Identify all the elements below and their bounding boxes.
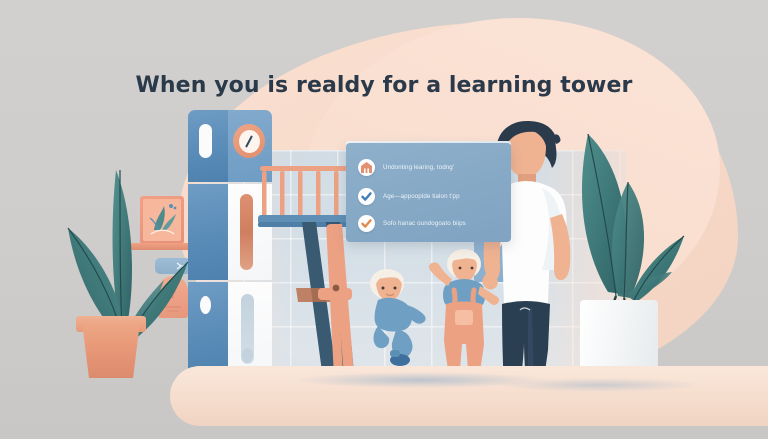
plant-pot-left bbox=[82, 322, 140, 378]
check-circle-icon bbox=[358, 188, 375, 205]
floor-shadow-right bbox=[500, 378, 700, 392]
tower-dot bbox=[242, 348, 253, 363]
plant-leaves-right bbox=[566, 96, 746, 311]
info-board: Undonting learing, todng' Age—appooplde … bbox=[346, 143, 511, 242]
potted-plant-right bbox=[566, 96, 746, 311]
tower-handle-mid bbox=[240, 194, 253, 270]
info-row: Sofo hanac oundogoato biips bbox=[358, 215, 466, 232]
tower-clock bbox=[233, 124, 265, 158]
info-row: Age—appooplde tialon t'pp bbox=[358, 188, 460, 205]
house-icon bbox=[358, 159, 375, 176]
tower-knob bbox=[200, 296, 211, 314]
info-row-label: Age—appooplde tialon t'pp bbox=[383, 193, 460, 200]
illustration-canvas: When you is realdy for a learning tower … bbox=[0, 0, 768, 439]
check-circle-icon bbox=[358, 215, 375, 232]
info-row-label: Sofo hanac oundogoato biips bbox=[383, 220, 466, 227]
tower-slot-top bbox=[199, 124, 212, 158]
page-title: When you is realdy for a learning tower bbox=[0, 73, 768, 98]
info-row-label: Undonting learing, todng' bbox=[383, 164, 454, 171]
info-row: Undonting learing, todng' bbox=[358, 159, 454, 176]
learning-tower bbox=[188, 110, 272, 380]
